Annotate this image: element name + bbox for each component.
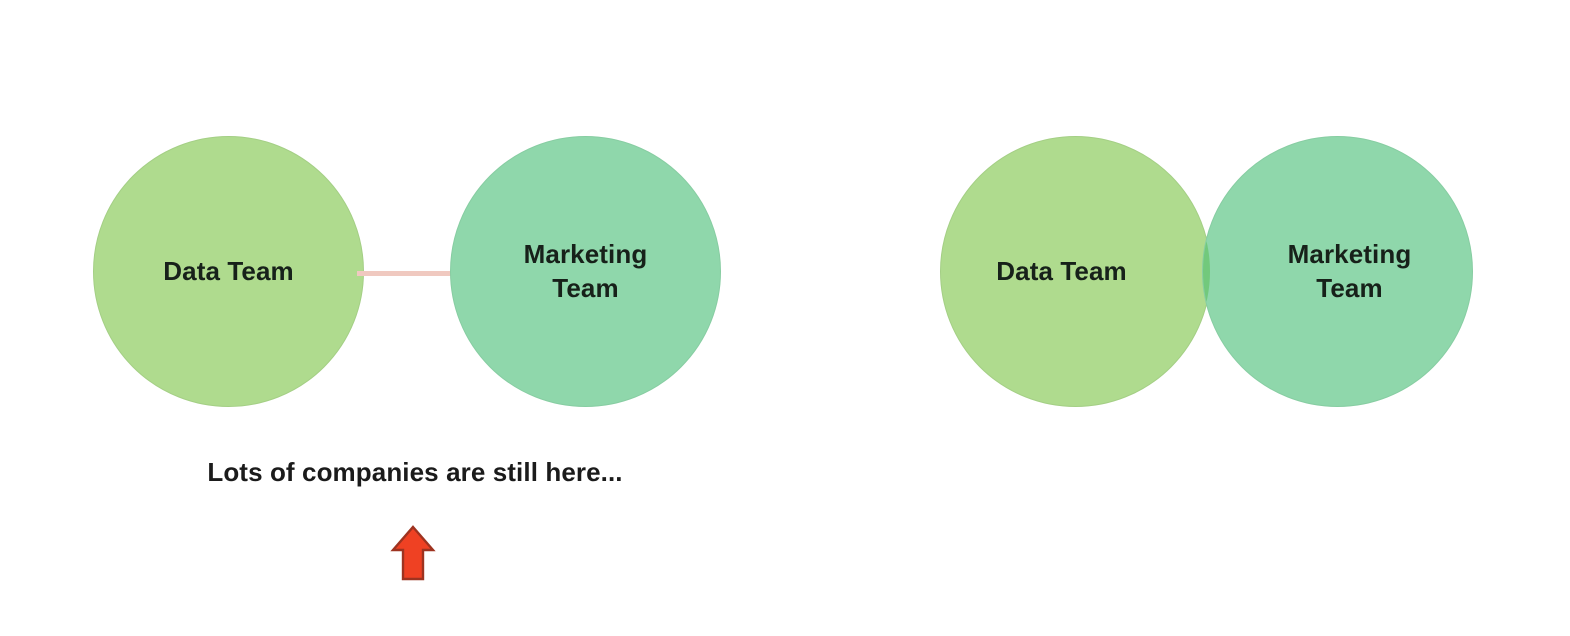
panel-separate-teams: Data Team Marketing Team Lots of compani… (0, 0, 830, 636)
up-arrow-icon (390, 524, 436, 582)
circle-label-data-team: Data Team (163, 255, 293, 289)
circle-label-data-team: Data Team (996, 255, 1126, 289)
diagram-canvas: Data Team Marketing Team Lots of compani… (0, 0, 1570, 636)
circle-marketing-team-overlap[interactable]: Marketing Team (1202, 136, 1473, 407)
circle-label-marketing-line2: Team (552, 273, 618, 303)
venn-separate: Data Team Marketing Team (85, 130, 745, 422)
circle-data-team-separate[interactable]: Data Team (93, 136, 364, 407)
caption-separate-teams: Lots of companies are still here... (0, 457, 830, 488)
arrow-container-left (0, 524, 830, 584)
venn-overlapping: Data Team Marketing Team (940, 130, 1485, 422)
panel-overlapping-teams: Data Team Marketing Team When they ought… (830, 0, 1570, 636)
circle-label-marketing-line2: Team (1316, 273, 1382, 303)
circle-label-marketing-line1: Marketing (1288, 239, 1412, 269)
circle-marketing-team-separate[interactable]: Marketing Team (450, 136, 721, 407)
circle-label-marketing-team: Marketing Team (1288, 238, 1412, 306)
circle-data-team-overlap[interactable]: Data Team (940, 136, 1211, 407)
circle-label-marketing-line1: Marketing (524, 239, 648, 269)
circle-label-marketing-team: Marketing Team (524, 238, 648, 306)
connector-line (357, 271, 453, 276)
